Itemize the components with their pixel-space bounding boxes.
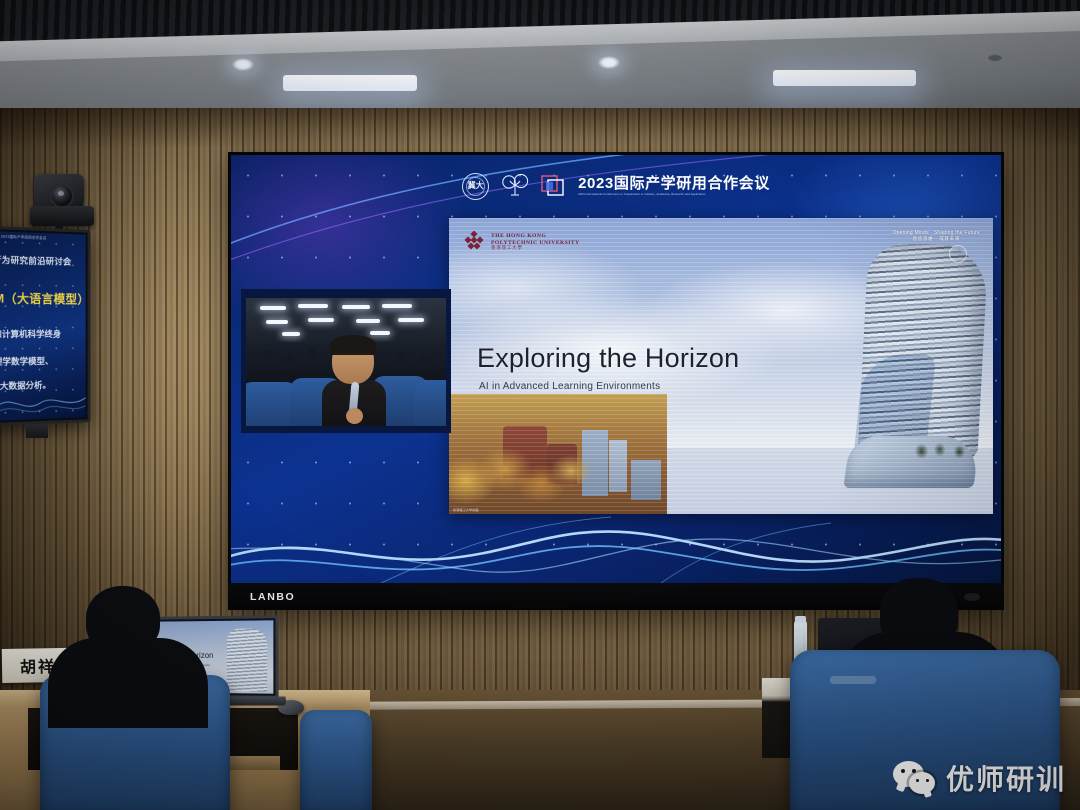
video-attendee-head bbox=[418, 356, 427, 366]
attendee-right-head bbox=[880, 578, 958, 650]
chair-tag bbox=[830, 676, 876, 684]
video-light-tube bbox=[398, 318, 424, 322]
ceiling bbox=[0, 0, 1080, 118]
video-seat bbox=[414, 380, 446, 426]
slide-seal-icon bbox=[949, 245, 967, 263]
video-speaker-hand bbox=[346, 408, 363, 424]
left-monitor-screen: 2023国际产学研用合作会议 行为研究前沿研讨会 LLM（大语言模型） 理和计算… bbox=[0, 231, 86, 420]
seal-glyph: 冀大 bbox=[468, 182, 484, 190]
watermark-text: 优师研训 bbox=[946, 758, 1066, 798]
slide-title: Exploring the Horizon bbox=[477, 343, 739, 374]
video-light-tube bbox=[298, 304, 328, 308]
conference-title: 2023国际产学研用合作会议 bbox=[578, 176, 770, 192]
video-light-tube bbox=[356, 319, 380, 323]
conference-room-photo: 2023国际产学研用合作会议 行为研究前沿研讨会 LLM（大语言模型） 理和计算… bbox=[0, 0, 1080, 810]
monitor-wave-graphic bbox=[0, 384, 86, 421]
video-light-tube bbox=[266, 320, 288, 324]
video-light-tube bbox=[370, 331, 390, 335]
slide-tagline: Opening Minds · Shaping the Future 啟迪思維 … bbox=[893, 230, 980, 242]
ceiling-speaker-icon bbox=[988, 54, 1002, 61]
video-light-tube bbox=[308, 318, 334, 322]
video-light-tube bbox=[342, 305, 370, 309]
left-monitor-stand bbox=[26, 424, 48, 438]
led-video-wall: 冀大 bbox=[228, 152, 1004, 610]
presentation-slide: 香港理工大學校園 bbox=[449, 218, 993, 514]
downlight-icon bbox=[598, 56, 620, 69]
video-light-tube bbox=[260, 306, 286, 310]
video-attendee-head bbox=[286, 354, 295, 364]
wechat-dot bbox=[926, 779, 929, 782]
panel-light bbox=[283, 75, 417, 91]
square-bracket-logo-icon bbox=[541, 174, 567, 198]
panel-light bbox=[773, 70, 916, 86]
attendee-left-head bbox=[86, 586, 160, 652]
left-monitor-line-3: 理和计算机科学终身 bbox=[0, 328, 86, 340]
left-wall-monitor: 2023国际产学研用合作会议 行为研究前沿研讨会 LLM（大语言模型） 理和计算… bbox=[0, 226, 90, 426]
polyu-line-3: 香港理工大學 bbox=[491, 246, 580, 251]
bottle-cap bbox=[795, 616, 806, 623]
slide-subtitle: AI in Advanced Learning Environments bbox=[479, 381, 660, 392]
tagline-chinese: 啟迪思維 · 成就未來 bbox=[893, 236, 980, 242]
video-inset-frame bbox=[246, 298, 446, 426]
ptz-conference-camera bbox=[30, 172, 96, 234]
video-speaker-glasses-icon bbox=[335, 353, 371, 359]
video-attendee-head bbox=[308, 348, 317, 358]
camera-mount bbox=[30, 206, 94, 226]
wechat-dot bbox=[916, 779, 919, 782]
conference-subtitle-en: 2023 International Conference on Coopera… bbox=[578, 192, 770, 196]
polyu-wordmark: THE HONG KONG POLYTECHNIC UNIVERSITY 香港理… bbox=[491, 233, 580, 250]
conference-header-row: 冀大 bbox=[231, 169, 1001, 203]
left-monitor-line-2: LLM（大语言模型） bbox=[0, 289, 86, 307]
chair-mid bbox=[300, 710, 372, 810]
video-light-tube bbox=[282, 332, 300, 336]
university-seal-logo-icon: 冀大 bbox=[462, 173, 489, 200]
polyu-logo-block: THE HONG KONG POLYTECHNIC UNIVERSITY 香港理… bbox=[463, 231, 580, 253]
led-screen-content: 冀大 bbox=[231, 155, 1001, 583]
psi-tree-logo-icon bbox=[500, 172, 530, 200]
left-monitor-line-4: ，心理学数学模型、 bbox=[0, 354, 86, 368]
video-speaker-figure bbox=[322, 338, 386, 426]
wechat-icon bbox=[893, 761, 937, 795]
video-attendee-head bbox=[264, 350, 273, 360]
conference-title-block: 2023国际产学研用合作会议 2023 International Confer… bbox=[578, 176, 770, 196]
wechat-bubble-small bbox=[909, 772, 935, 794]
camera-lens-icon bbox=[50, 184, 74, 208]
remote-speaker-video bbox=[241, 289, 451, 433]
left-monitor-line-1: 行为研究前沿研讨会 bbox=[0, 254, 86, 269]
downlight-icon bbox=[232, 58, 254, 71]
wechat-dot bbox=[912, 769, 916, 773]
wechat-dot bbox=[901, 769, 905, 773]
polyu-diamond-logo-icon bbox=[463, 231, 485, 253]
video-speaker-hair bbox=[330, 335, 376, 355]
video-light-tube bbox=[382, 304, 412, 308]
video-attendee-head bbox=[396, 352, 405, 362]
laptop-slide-tower bbox=[227, 629, 267, 692]
watermark: 优师研训 bbox=[893, 758, 1066, 798]
